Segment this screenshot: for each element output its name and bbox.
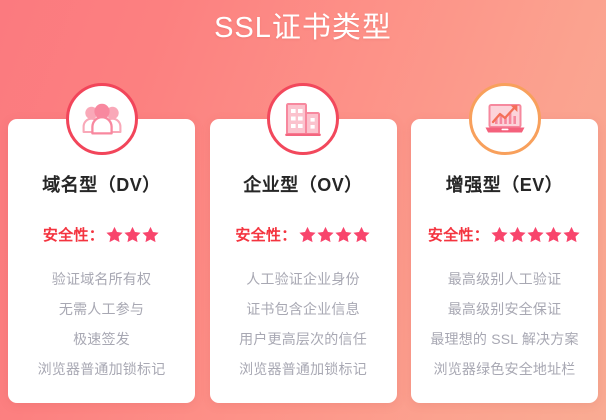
list-item: 极速签发: [8, 324, 195, 354]
list-item: 用户更高层次的信任: [210, 324, 397, 354]
list-item: 人工验证企业身份: [210, 264, 397, 294]
list-item: 最高级别人工验证: [411, 264, 598, 294]
list-item: 最理想的 SSL 解决方案: [411, 324, 598, 354]
list-item: 浏览器普通加锁标记: [210, 354, 397, 384]
star-rating-3: [106, 226, 160, 243]
star-rating-4: [299, 226, 371, 243]
certificate-card-list: 域名型（DV） 安全性： 验证域名所有权 无需人工参与 极速签发 浏览器普通加锁…: [8, 119, 598, 403]
people-group-icon: [66, 83, 138, 155]
certificate-card-ev[interactable]: 增强型（EV） 安全性： 最高级别人工验证 最高级别安全保证 最理想的 SSL …: [411, 119, 598, 403]
feature-list: 最高级别人工验证 最高级别安全保证 最理想的 SSL 解决方案 浏览器绿色安全地…: [411, 264, 598, 384]
security-rating: 安全性：: [8, 224, 195, 245]
security-label: 安全性：: [428, 224, 489, 245]
security-label: 安全性：: [235, 224, 296, 245]
list-item: 无需人工参与: [8, 294, 195, 324]
card-title: 域名型（DV）: [8, 171, 195, 197]
laptop-chart-icon: [469, 83, 541, 155]
feature-list: 人工验证企业身份 证书包含企业信息 用户更高层次的信任 浏览器普通加锁标记: [210, 264, 397, 384]
security-label: 安全性：: [43, 224, 104, 245]
list-item: 证书包含企业信息: [210, 294, 397, 324]
star-rating-5: [491, 226, 581, 243]
card-title: 增强型（EV）: [411, 171, 598, 197]
ssl-certificate-types-page: SSL证书类型 域名型（DV） 安全性：: [0, 0, 606, 420]
security-rating: 安全性：: [210, 224, 397, 245]
office-building-icon: [267, 83, 339, 155]
list-item: 最高级别安全保证: [411, 294, 598, 324]
security-rating: 安全性：: [411, 224, 598, 245]
certificate-card-dv[interactable]: 域名型（DV） 安全性： 验证域名所有权 无需人工参与 极速签发 浏览器普通加锁…: [8, 119, 195, 403]
page-title: SSL证书类型: [0, 8, 606, 48]
card-title: 企业型（OV）: [210, 171, 397, 197]
feature-list: 验证域名所有权 无需人工参与 极速签发 浏览器普通加锁标记: [8, 264, 195, 384]
list-item: 浏览器绿色安全地址栏: [411, 354, 598, 384]
list-item: 验证域名所有权: [8, 264, 195, 294]
list-item: 浏览器普通加锁标记: [8, 354, 195, 384]
certificate-card-ov[interactable]: 企业型（OV） 安全性： 人工验证企业身份 证书包含企业信息 用户更高层次的信任…: [210, 119, 397, 403]
